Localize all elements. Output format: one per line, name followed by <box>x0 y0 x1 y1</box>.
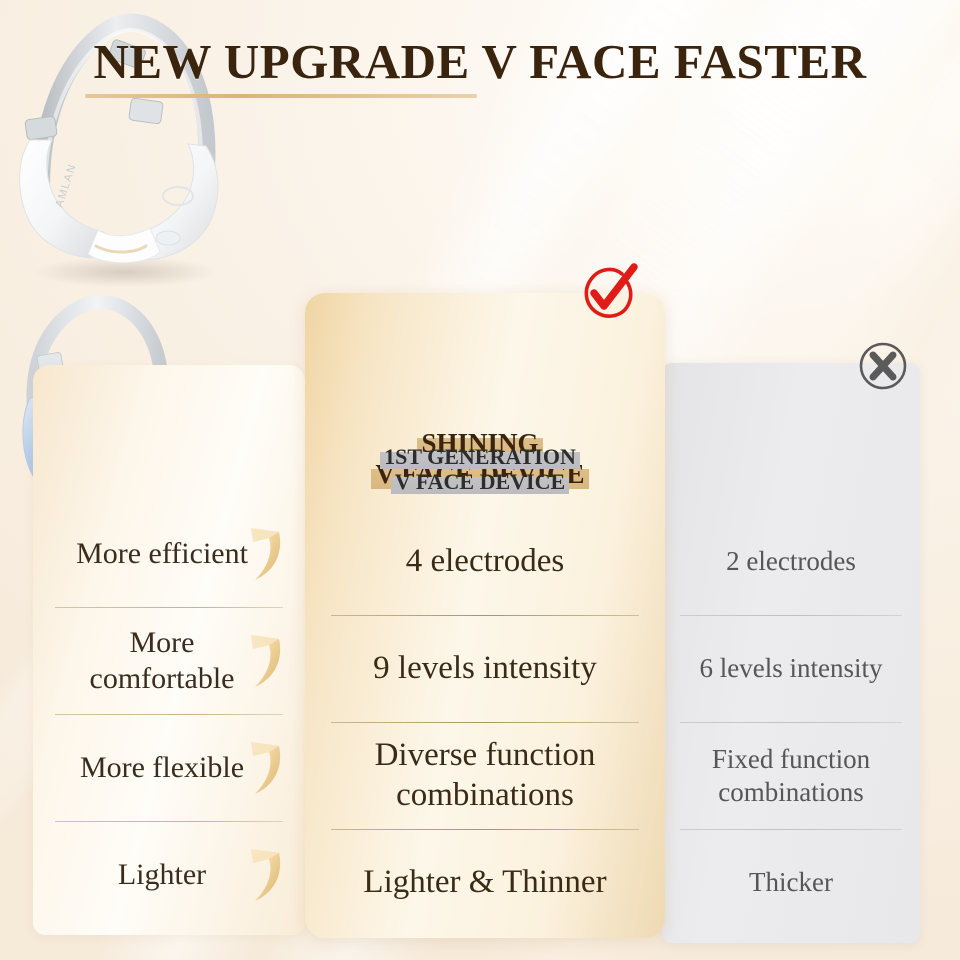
spec-row: 4 electrodes <box>305 508 665 615</box>
spec-label: 9 levels intensity <box>373 649 597 689</box>
curved-arrow-icon <box>239 845 287 905</box>
new-device-row-list: 4 electrodes 9 levels intensity Diverse … <box>305 508 665 936</box>
feature-row: Lighter <box>33 821 305 928</box>
spec-row: 2 electrodes <box>662 508 920 615</box>
curved-arrow-icon <box>239 738 287 798</box>
spec-label: 6 levels intensity <box>700 652 883 684</box>
spec-row: Diverse function combinations <box>305 722 665 829</box>
title-underline <box>85 94 477 98</box>
old-device-heading: 1ST GENERATION V FACE DEVICE <box>0 444 960 494</box>
spec-row: Thicker <box>662 829 920 936</box>
feature-label: More flexible <box>80 750 258 786</box>
spec-row: 6 levels intensity <box>662 615 920 722</box>
curved-arrow-icon <box>239 524 287 584</box>
spec-label: Thicker <box>749 866 833 898</box>
feature-row: More comfortable <box>33 607 305 714</box>
spec-label: Lighter & Thinner <box>363 863 606 903</box>
feature-label: Lighter <box>118 857 220 893</box>
spec-row: Fixed function combinations <box>662 722 920 829</box>
spec-row: Lighter & Thinner <box>305 829 665 936</box>
feature-row: More efficient <box>33 500 305 607</box>
old-device-row-list: 2 electrodes 6 levels intensity Fixed fu… <box>662 508 920 936</box>
feature-row: More flexible <box>33 714 305 821</box>
spec-label: 2 electrodes <box>726 545 856 577</box>
feature-label: More efficient <box>76 536 262 572</box>
features-row-list: More efficient More comfortable <box>33 500 305 928</box>
title-block: NEW UPGRADE V FACE FASTER <box>0 36 960 89</box>
curved-arrow-icon <box>239 631 287 691</box>
old-device-heading-line2: V FACE DEVICE <box>391 469 569 494</box>
spec-label: 4 electrodes <box>406 542 565 582</box>
spec-row: 9 levels intensity <box>305 615 665 722</box>
spec-label: Fixed function combinations <box>680 743 902 808</box>
check-circle-icon <box>578 262 640 324</box>
old-device-heading-line1: 1ST GENERATION <box>380 444 580 469</box>
page-title: NEW UPGRADE V FACE FASTER <box>0 36 960 89</box>
spec-label: Diverse function combinations <box>335 736 635 815</box>
infographic-page: NEW UPGRADE V FACE FASTER <box>0 0 960 960</box>
cross-circle-icon <box>855 338 911 394</box>
svg-text:AMLAN: AMLAN <box>53 162 78 209</box>
